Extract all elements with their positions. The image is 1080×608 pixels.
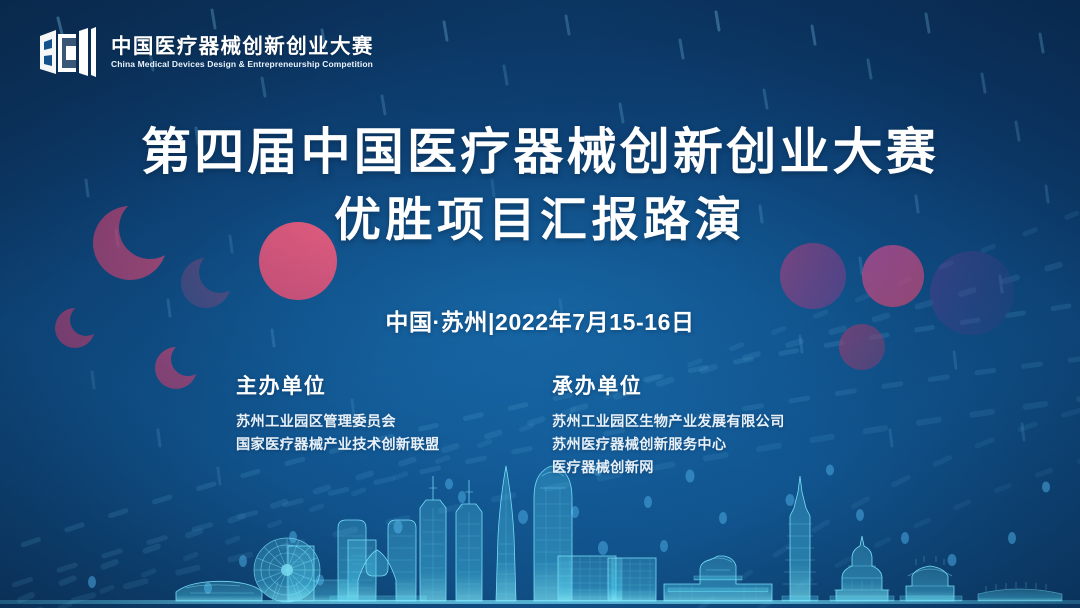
- organizer-item: 医疗器械创新网: [552, 457, 852, 480]
- competition-logo: 中国医疗器械创新创业大赛 China Medical Devices Desig…: [36, 26, 377, 80]
- organizer-heading-host: 主办单位: [236, 370, 536, 400]
- organizer-item: 苏州工业园区管理委员会: [236, 411, 536, 434]
- open-door-logo-icon: [36, 26, 98, 80]
- organizer-heading-coorganizer: 承办单位: [552, 370, 852, 400]
- event-poster: 中国医疗器械创新创业大赛 China Medical Devices Desig…: [0, 0, 1080, 608]
- organizer-item: 苏州医疗器械创新服务中心: [552, 434, 852, 457]
- logo-text-block: 中国医疗器械创新创业大赛 China Medical Devices Desig…: [111, 37, 377, 69]
- title-line-1: 第四届中国医疗器械创新创业大赛: [0, 124, 1080, 181]
- organizer-column-coorganizer: 承办单位 苏州工业园区生物产业发展有限公司 苏州医疗器械创新服务中心 医疗器械创…: [536, 370, 852, 480]
- event-date-location: 中国·苏州|2022年7月15-16日: [0, 303, 1080, 337]
- organizer-item: 国家医疗器械产业技术创新联盟: [236, 434, 536, 457]
- title-line-2: 优胜项目汇报路演: [0, 193, 1080, 248]
- suzhou-skyline: [0, 458, 1080, 608]
- organizer-item: 苏州工业园区生物产业发展有限公司: [552, 411, 852, 434]
- logo-title-cn: 中国医疗器械创新创业大赛: [111, 37, 377, 58]
- logo-title-en: China Medical Devices Design & Entrepren…: [111, 60, 373, 69]
- organizer-column-host: 主办单位 苏州工业园区管理委员会 国家医疗器械产业技术创新联盟: [228, 370, 536, 480]
- organizers-section: 主办单位 苏州工业园区管理委员会 国家医疗器械产业技术创新联盟 承办单位 苏州工…: [0, 370, 1080, 480]
- poster-title: 第四届中国医疗器械创新创业大赛 优胜项目汇报路演: [0, 124, 1080, 248]
